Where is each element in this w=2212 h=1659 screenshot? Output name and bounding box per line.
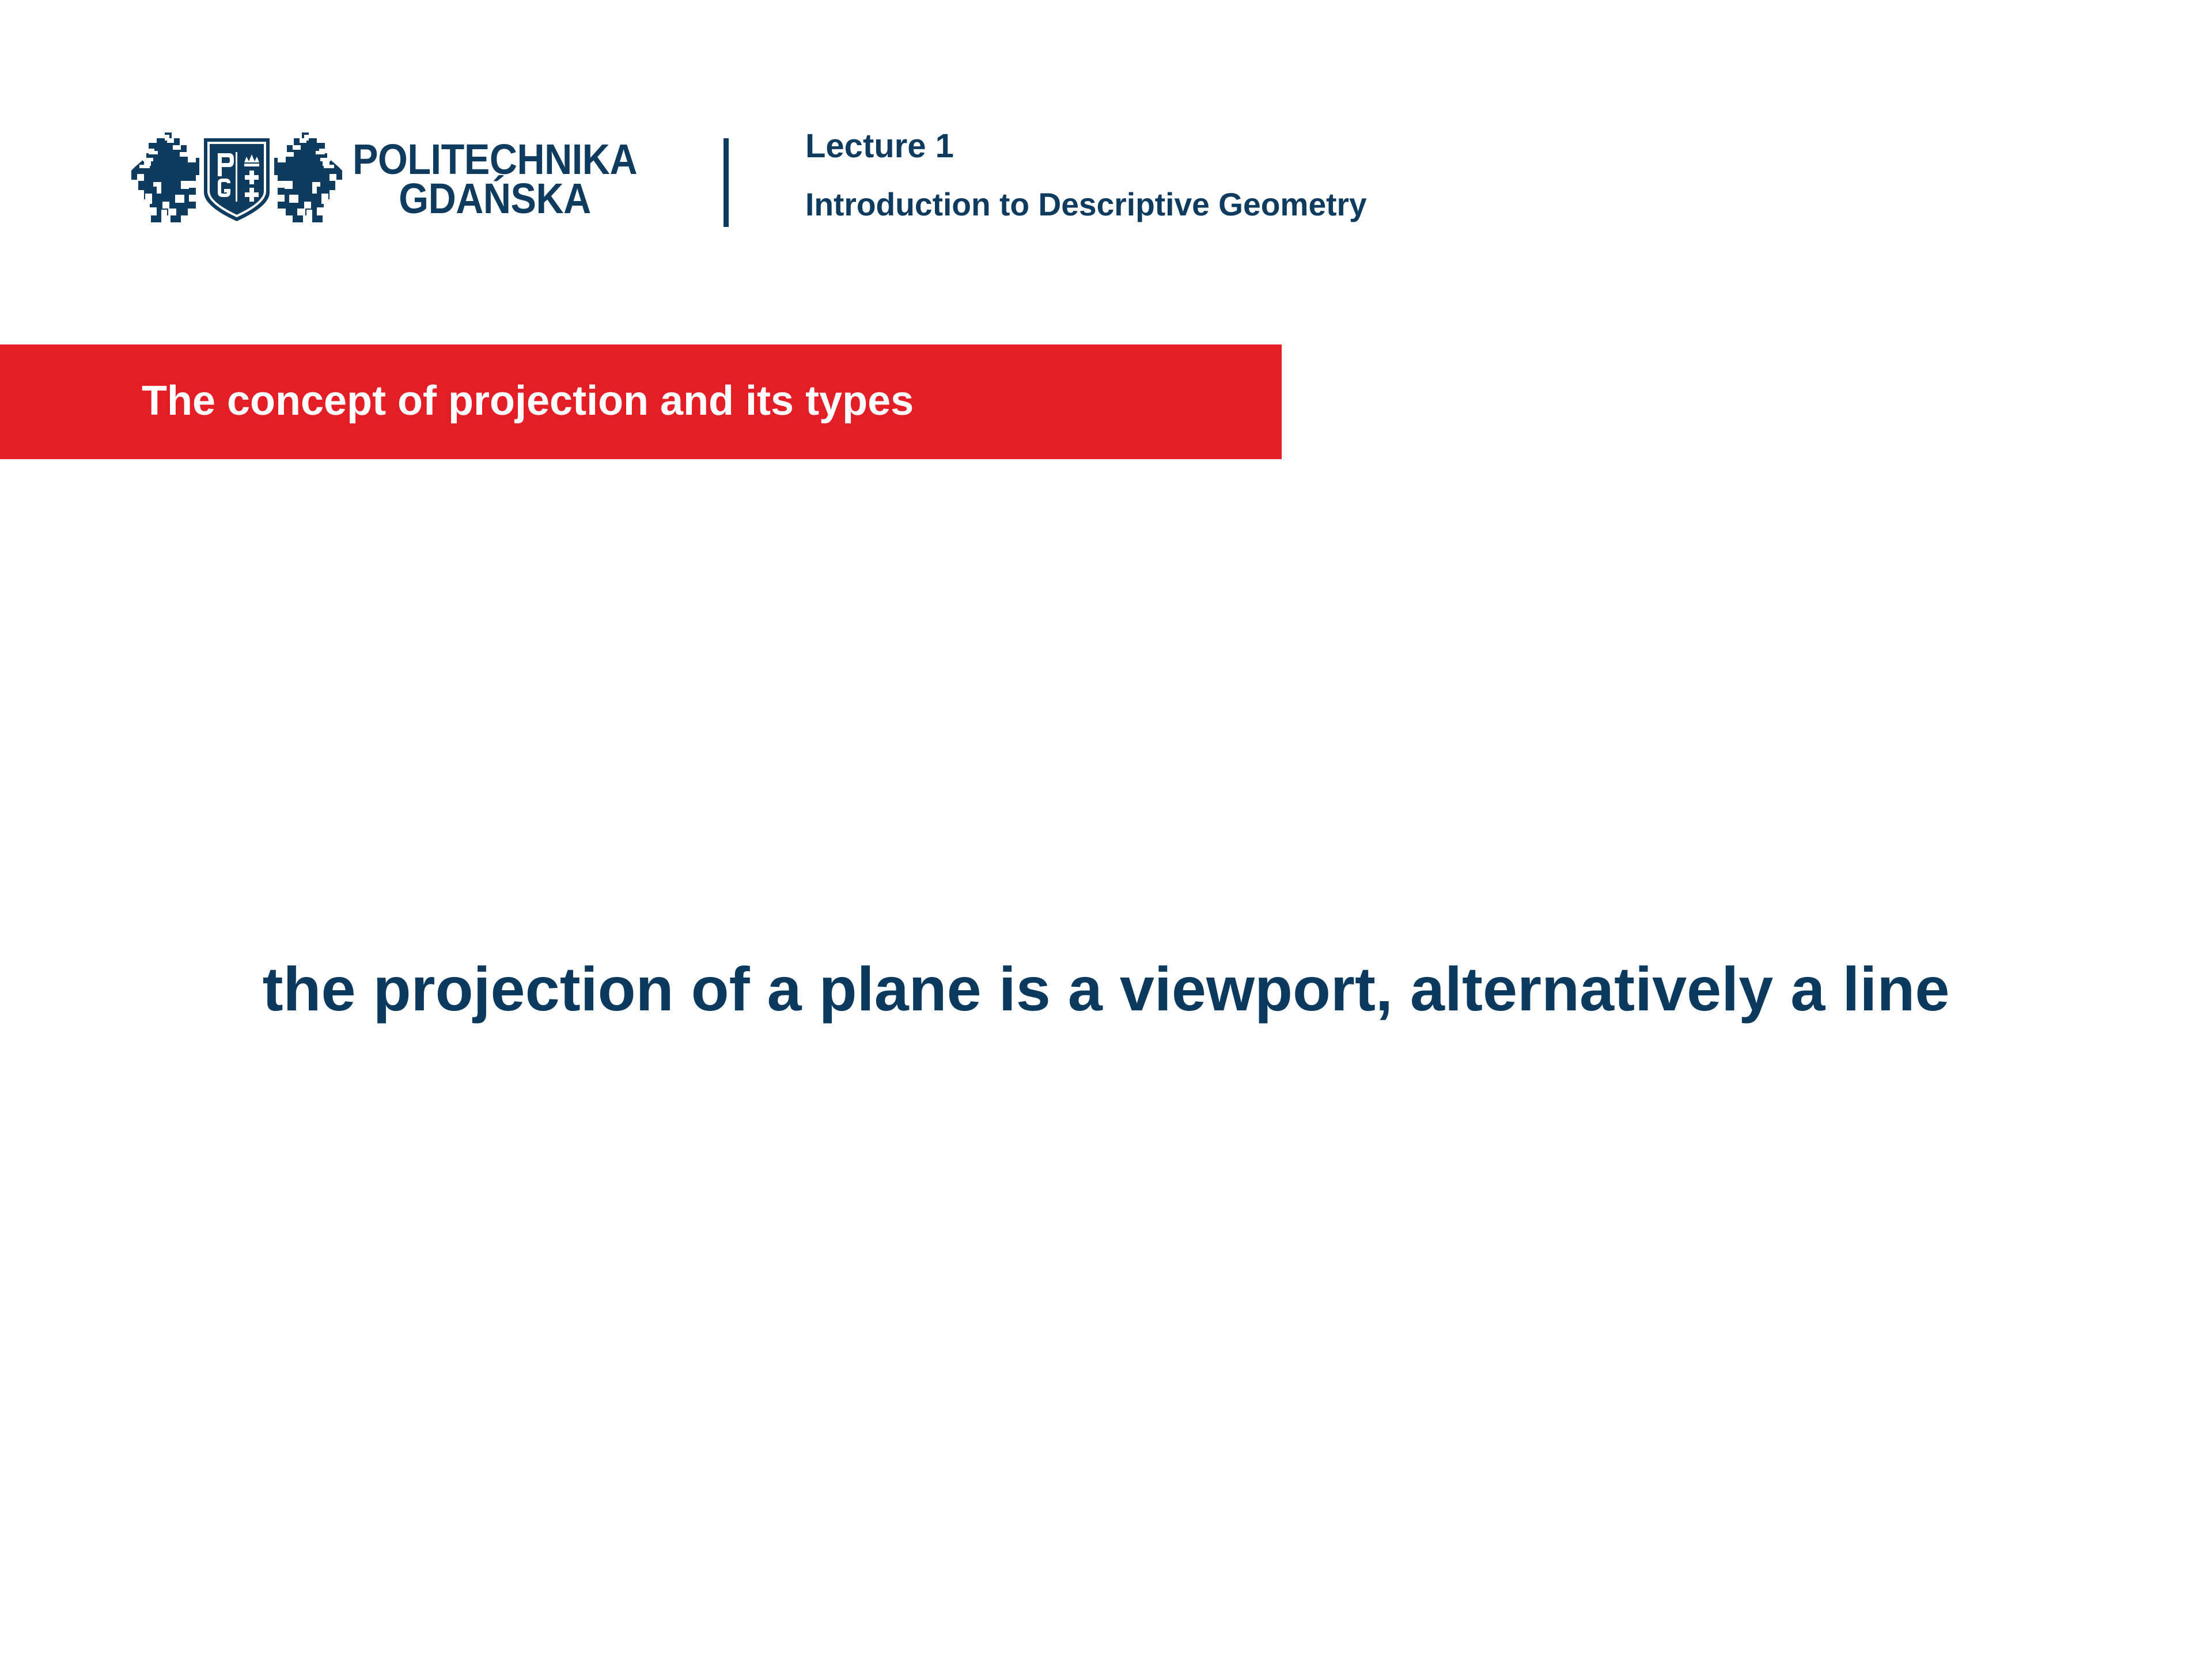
header-vertical-divider xyxy=(724,138,729,227)
lecture-subtitle: Introduction to Descriptive Geometry xyxy=(805,188,1367,221)
brand-lockup: POLITECHNIKA GDAŃSKA xyxy=(131,126,669,233)
lecture-number: Lecture 1 xyxy=(805,130,1376,163)
section-banner: The concept of projection and its types xyxy=(0,344,1282,459)
university-wordmark: POLITECHNIKA GDAŃSKA xyxy=(353,140,637,218)
slide-header: POLITECHNIKA GDAŃSKA Lecture 1 Introduct… xyxy=(0,0,2212,323)
lecture-title-block: Lecture 1 Introduction to Descriptive Ge… xyxy=(805,130,1376,221)
wordmark-line-1: POLITECHNIKA xyxy=(353,140,637,179)
wordmark-line-2: GDAŃSKA xyxy=(399,179,591,218)
politechnika-gdanska-crest-icon xyxy=(131,126,342,233)
section-banner-label: The concept of projection and its types xyxy=(142,380,914,422)
main-statement: the projection of a plane is a viewport,… xyxy=(0,950,2212,1028)
